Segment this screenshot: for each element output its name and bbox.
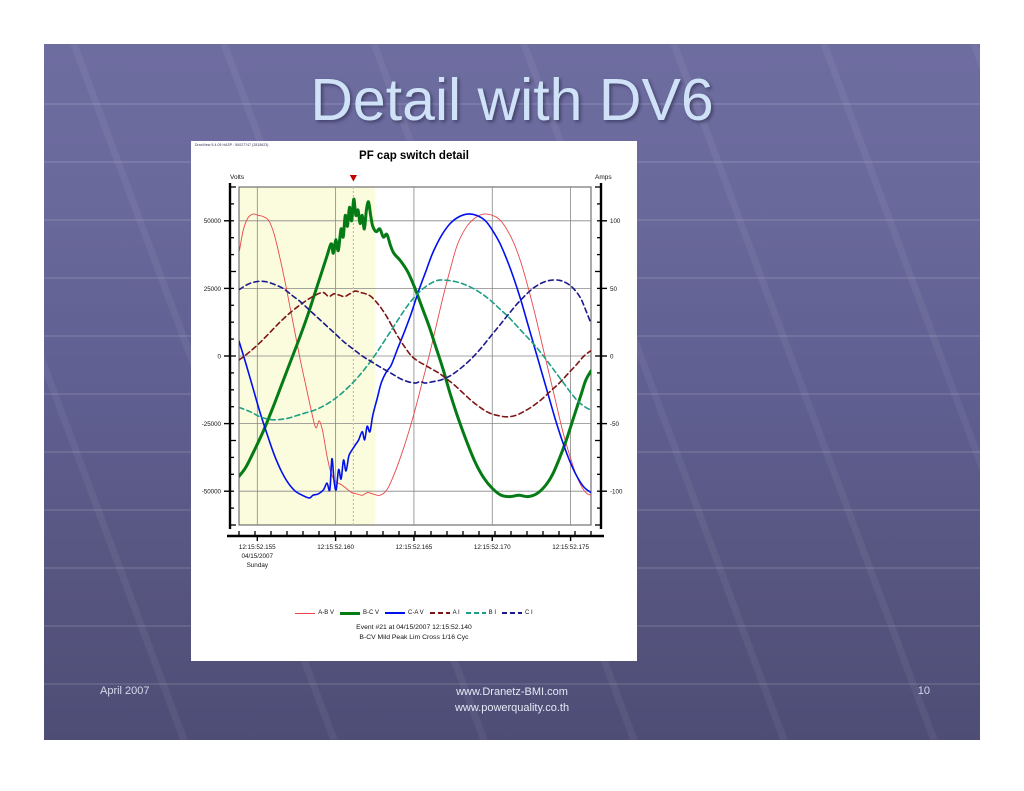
legend-label: B I <box>489 610 496 616</box>
legend-label: A-B V <box>318 610 334 616</box>
footer-page-number: 10 <box>918 685 930 697</box>
event-caption-line1: Event #21 at 04/15/2007 12:15:52.140 <box>191 623 637 633</box>
event-caption-line2: B-CV Mild Peak Lim Cross 1/16 Cyc <box>191 633 637 643</box>
footer-url-secondary: www.powerquality.co.th <box>44 701 980 717</box>
screen-root: Detail with DV6 DranView 5.4.05 HASP : 5… <box>0 0 1024 791</box>
legend-swatch-icon <box>502 612 522 614</box>
svg-text:100: 100 <box>610 218 621 225</box>
legend-item-c-a-v: C-A V <box>385 610 424 616</box>
legend-item-a-b-v: A-B V <box>295 610 334 616</box>
legend-item-c-i: C I <box>502 610 533 616</box>
svg-text:25000: 25000 <box>204 286 222 293</box>
page-title: Detail with DV6 <box>44 70 980 132</box>
legend-label: C-A V <box>408 610 424 616</box>
svg-text:04/15/2007: 04/15/2007 <box>242 553 274 560</box>
legend-swatch-icon <box>385 612 405 614</box>
legend-swatch-icon <box>430 612 450 614</box>
presentation-slide: Detail with DV6 DranView 5.4.05 HASP : 5… <box>44 44 980 740</box>
svg-text:-50000: -50000 <box>202 489 222 496</box>
event-caption: Event #21 at 04/15/2007 12:15:52.140 B-C… <box>191 623 637 643</box>
svg-text:0: 0 <box>610 353 614 360</box>
svg-text:12:15:52.170: 12:15:52.170 <box>474 544 511 551</box>
legend-swatch-icon <box>340 612 360 615</box>
svg-text:12:15:52.175: 12:15:52.175 <box>552 544 589 551</box>
svg-text:-50: -50 <box>610 421 620 428</box>
legend-item-b-i: B I <box>466 610 496 616</box>
svg-text:12:15:52.155: 12:15:52.155 <box>239 544 276 551</box>
legend-item-a-i: A I <box>430 610 460 616</box>
legend-label: B-C V <box>363 610 379 616</box>
svg-text:50: 50 <box>610 286 617 293</box>
legend-swatch-icon <box>466 612 486 614</box>
svg-text:12:15:52.160: 12:15:52.160 <box>317 544 354 551</box>
svg-text:-25000: -25000 <box>202 421 222 428</box>
svg-text:12:15:52.165: 12:15:52.165 <box>396 544 433 551</box>
legend-label: C I <box>525 610 533 616</box>
svg-text:0: 0 <box>218 353 222 360</box>
svg-text:Sunday: Sunday <box>247 562 269 569</box>
svg-text:-100: -100 <box>610 489 623 496</box>
event-marker-triangle <box>350 175 357 182</box>
plot-area: 50000250000-25000-50000100500-50-10012:1… <box>191 141 637 661</box>
footer-urls: www.Dranetz-BMI.com www.powerquality.co.… <box>44 685 980 717</box>
svg-text:50000: 50000 <box>204 218 222 225</box>
legend-swatch-icon <box>295 613 315 614</box>
legend-item-b-c-v: B-C V <box>340 610 379 616</box>
legend-label: A I <box>453 610 460 616</box>
footer-url-primary: www.Dranetz-BMI.com <box>44 685 980 701</box>
chart-panel: DranView 5.4.05 HASP : 50027747 (2815623… <box>191 141 637 661</box>
chart-legend: A-B VB-C VC-A VA IB IC I <box>191 610 637 616</box>
